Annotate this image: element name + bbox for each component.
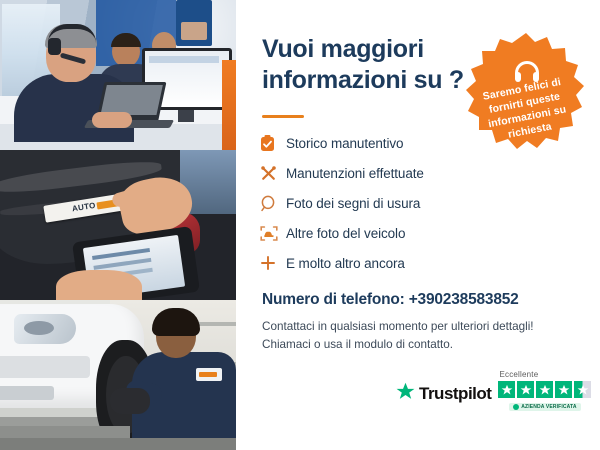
trustpilot-name: Trustpilot bbox=[419, 384, 491, 404]
photo-column bbox=[0, 0, 236, 450]
list-item-label: Storico manutentivo bbox=[286, 136, 403, 151]
list-item: Storico manutentivo bbox=[260, 130, 496, 156]
call-center-photo bbox=[0, 0, 236, 150]
title-divider bbox=[262, 115, 304, 118]
list-item-label: E molto altro ancora bbox=[286, 256, 405, 271]
content-panel: Vuoi maggiori informazioni su ? Saremo f… bbox=[236, 0, 600, 450]
star-rating bbox=[498, 381, 591, 398]
verified-badge: AZIENDA VERIFICATA bbox=[509, 403, 580, 411]
magnifier-icon bbox=[260, 195, 286, 212]
star-filled bbox=[536, 381, 553, 398]
page-title: Vuoi maggiori informazioni su ? bbox=[262, 34, 492, 95]
car-scan-icon bbox=[260, 225, 286, 242]
list-item: Manutenzioni effettuate bbox=[260, 160, 496, 186]
feature-list: Storico manutentivo Manutenzioni effettu… bbox=[260, 130, 496, 280]
rating-label: Eccellente bbox=[499, 370, 538, 379]
vehicle-label-photo bbox=[0, 150, 236, 300]
star-half bbox=[574, 381, 591, 398]
trustpilot-brand: Trustpilot bbox=[396, 382, 491, 411]
verified-label: AZIENDA VERIFICATA bbox=[521, 404, 576, 410]
promo-banner: Vuoi maggiori informazioni su ? Saremo f… bbox=[0, 0, 600, 450]
list-item-label: Manutenzioni effettuate bbox=[286, 166, 424, 181]
list-item-label: Altre foto del veicolo bbox=[286, 226, 405, 241]
headset-icon bbox=[515, 61, 539, 81]
contact-note-line-2: Chiamaci o usa il modulo di contatto. bbox=[262, 336, 562, 354]
list-item: E molto altro ancora bbox=[260, 250, 496, 276]
trustpilot-widget[interactable]: Trustpilot Eccellente bbox=[396, 370, 591, 411]
contact-note-line-1: Contattaci in qualsiasi momento per ulte… bbox=[262, 318, 562, 336]
phone-number[interactable]: Numero di telefono: +390238583852 bbox=[262, 291, 519, 309]
mechanic-wheel-photo bbox=[0, 300, 236, 450]
star-filled bbox=[555, 381, 572, 398]
trustpilot-star-icon bbox=[396, 382, 415, 406]
star-filled bbox=[498, 381, 515, 398]
trustpilot-rating: Eccellente bbox=[498, 370, 591, 411]
list-item: Foto dei segni di usura bbox=[260, 190, 496, 216]
tools-cross-icon bbox=[260, 165, 286, 182]
contact-note: Contattaci in qualsiasi momento per ulte… bbox=[262, 318, 562, 354]
star-filled bbox=[517, 381, 534, 398]
verified-check-icon bbox=[513, 404, 519, 410]
list-item-label: Foto dei segni di usura bbox=[286, 196, 420, 211]
plus-icon bbox=[260, 255, 286, 271]
list-item: Altre foto del veicolo bbox=[260, 220, 496, 246]
clipboard-check-icon bbox=[260, 135, 286, 152]
